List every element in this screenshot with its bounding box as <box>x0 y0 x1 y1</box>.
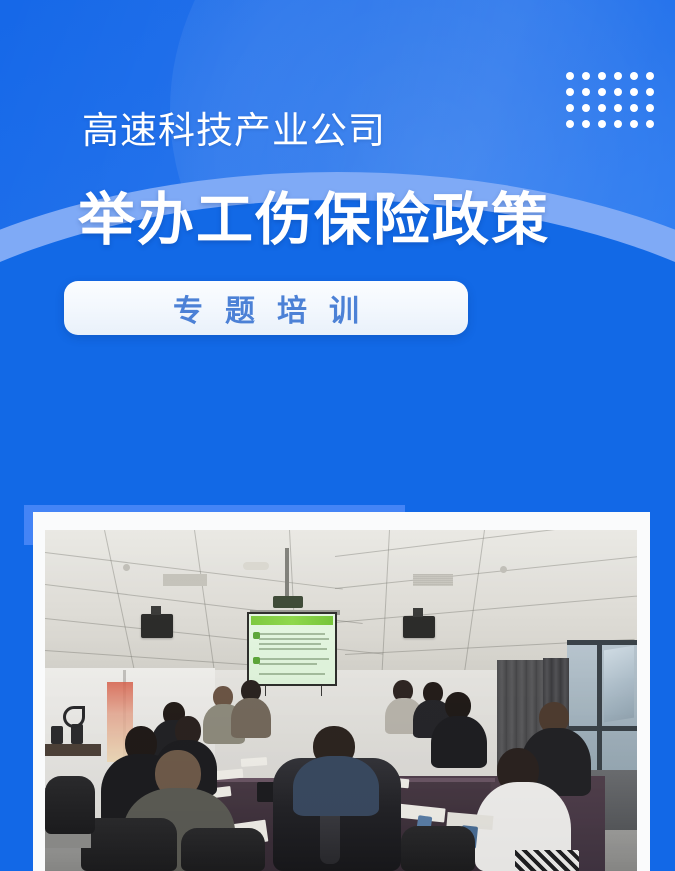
slide-text-line <box>259 648 327 650</box>
window-pane-open <box>604 646 634 723</box>
side-desk <box>45 744 101 756</box>
person-body <box>231 698 271 738</box>
company-subtitle: 高速科技产业公司 <box>82 105 386 157</box>
slide-text-line <box>259 673 325 675</box>
window-frame <box>567 726 637 731</box>
photo-card <box>33 512 650 871</box>
slide-text-line <box>259 663 317 665</box>
topic-training-badge: 专题培训 <box>64 281 468 335</box>
slide-title-bar <box>251 616 333 625</box>
ceiling-vent <box>413 574 453 586</box>
ceiling-sprinkler-icon <box>123 564 130 571</box>
ceiling-light <box>243 562 269 570</box>
slide-bullet-icon <box>253 657 260 664</box>
page-title: 举办工伤保险政策 <box>78 183 550 257</box>
office-chair <box>401 826 475 871</box>
office-chair <box>181 828 265 871</box>
ceiling-sprinkler-icon <box>500 566 507 573</box>
skirt-pattern <box>515 850 579 871</box>
hero-text-group: 高速科技产业公司 举办工伤保险政策 <box>0 0 675 500</box>
person-body <box>431 716 487 768</box>
screen-support <box>265 686 266 696</box>
window-frame <box>567 640 637 645</box>
office-chair <box>81 818 177 871</box>
wall-speaker <box>141 614 173 638</box>
training-room-photo <box>45 530 637 871</box>
chair-decor <box>63 706 85 728</box>
poster-root: 高速科技产业公司 举办工伤保险政策 专题培训 <box>0 0 675 871</box>
person-body-blue <box>293 756 379 816</box>
badge-label: 专题培训 <box>151 286 381 330</box>
screen-support <box>321 686 322 696</box>
slide-text-line <box>259 643 321 645</box>
slide-text-line <box>259 633 325 635</box>
projector-mount <box>285 548 289 600</box>
slide-text-line <box>259 658 329 660</box>
slide-bullet-icon <box>253 632 260 639</box>
wall-speaker <box>403 616 435 638</box>
slide-text-line <box>259 638 329 640</box>
speaker-bracket <box>151 606 161 615</box>
projector <box>273 596 303 608</box>
ceiling-vent <box>163 574 207 586</box>
speaker-bracket <box>413 608 423 617</box>
microphone <box>51 726 63 744</box>
office-chair <box>45 776 95 834</box>
